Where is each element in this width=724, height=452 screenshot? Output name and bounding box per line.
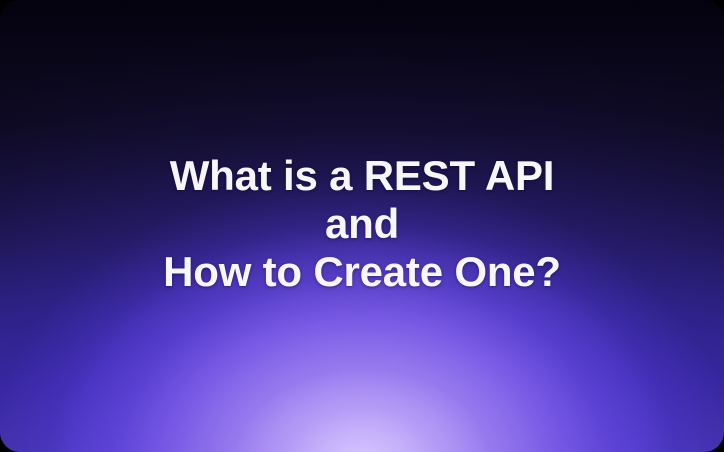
slide-title-block: What is a REST API and How to Create One… xyxy=(0,152,724,296)
title-line-3: How to Create One? xyxy=(0,248,724,296)
title-slide: What is a REST API and How to Create One… xyxy=(0,0,724,452)
title-line-2: and xyxy=(0,200,724,248)
title-line-1: What is a REST API xyxy=(0,152,724,200)
